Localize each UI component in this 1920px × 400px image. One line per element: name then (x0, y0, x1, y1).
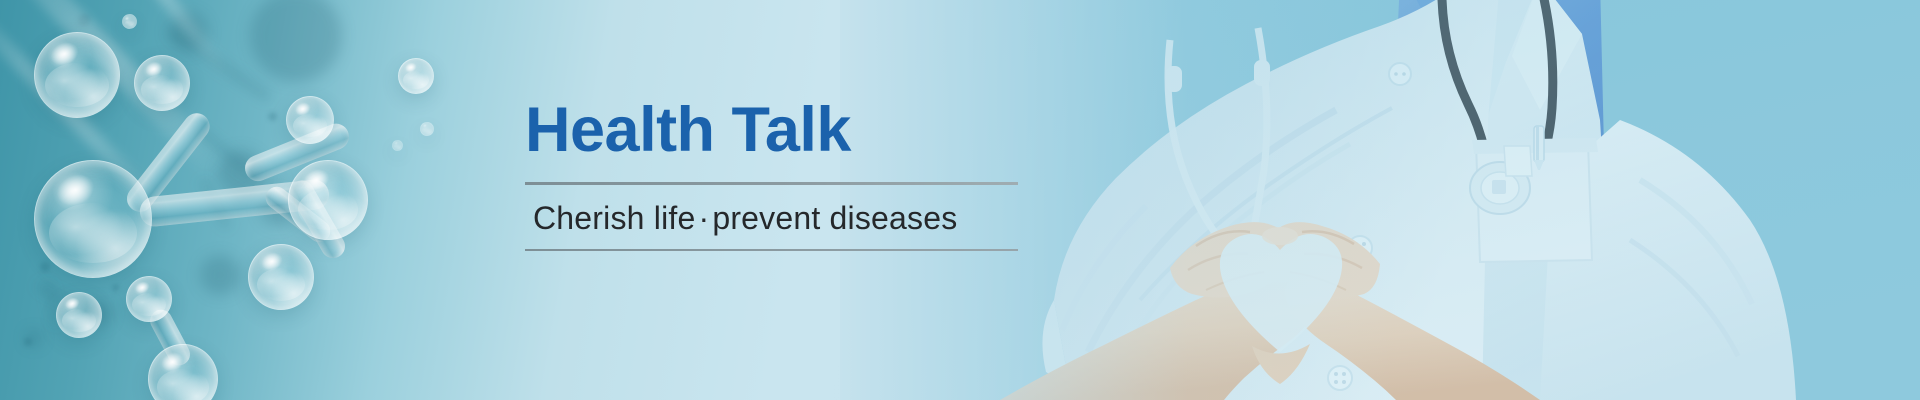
ghost-atom (200, 255, 240, 295)
bubble-atom (56, 292, 102, 338)
bubble-atom (286, 96, 334, 144)
subtitle-part-two: prevent diseases (712, 200, 957, 236)
speck (112, 284, 119, 291)
divider-bottom (525, 249, 1018, 251)
molecule-bubbles-illustration (0, 0, 470, 400)
speck (40, 262, 50, 272)
divider-top (525, 182, 1018, 185)
bubble-small (420, 122, 434, 136)
bubble-atom-large (34, 160, 152, 278)
bubble-small (122, 14, 137, 29)
speck (24, 338, 32, 346)
page-subtitle: Cherish life·prevent diseases (533, 199, 1025, 237)
bubble-atom (34, 32, 120, 118)
health-talk-banner: Health Talk Cherish life·prevent disease… (0, 0, 1920, 400)
bubble-small (392, 140, 403, 151)
bubble-atom (288, 160, 368, 240)
bubble-atom (148, 344, 218, 400)
page-title: Health Talk (525, 100, 1025, 160)
ghost-atom (250, 0, 342, 82)
bubble-small (398, 58, 434, 94)
subtitle-separator: · (695, 199, 712, 237)
headline-block: Health Talk Cherish life·prevent disease… (525, 100, 1025, 251)
bubble-atom (126, 276, 172, 322)
speck (268, 112, 277, 121)
subtitle-part-one: Cherish life (533, 200, 695, 236)
bubble-atom (248, 244, 314, 310)
bubble-atom (134, 55, 190, 111)
